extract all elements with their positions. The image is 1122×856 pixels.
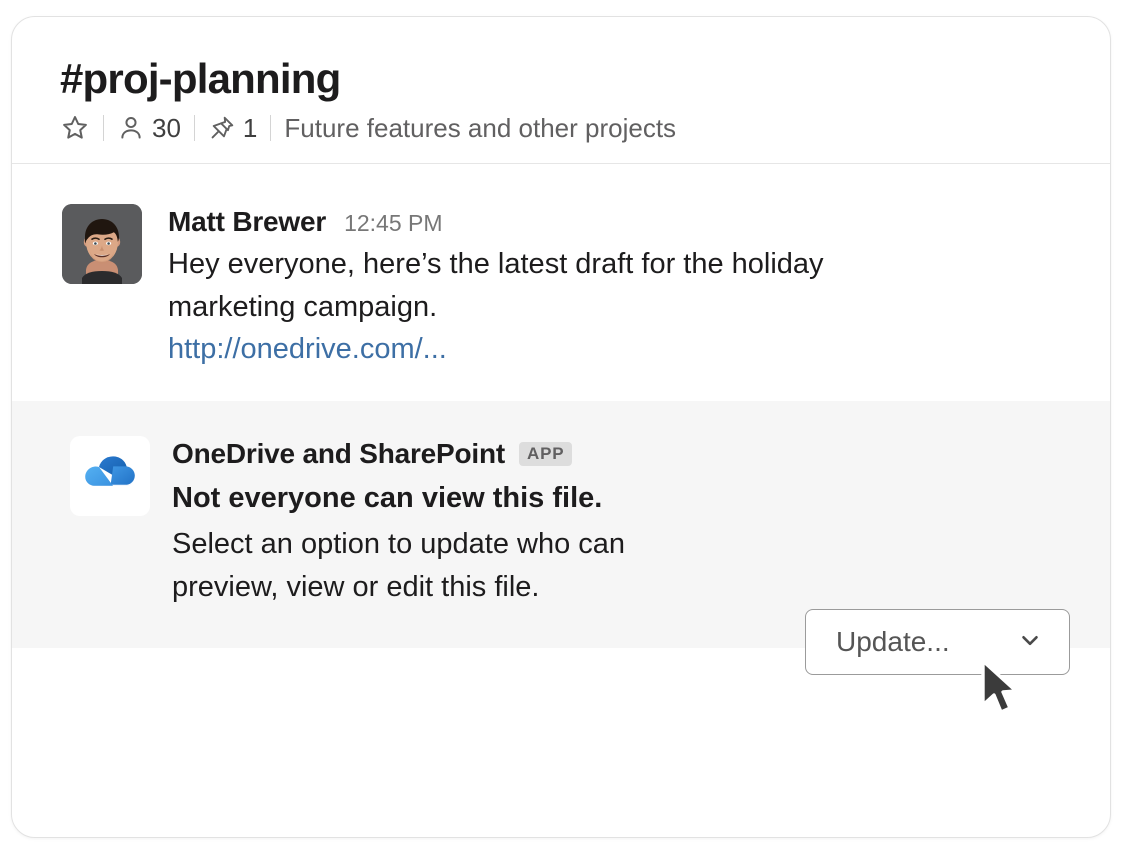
chevron-down-icon bbox=[1017, 627, 1043, 658]
message-link[interactable]: http://onedrive.com/... bbox=[168, 328, 824, 371]
update-button[interactable]: Update... bbox=[805, 609, 1070, 675]
avatar[interactable] bbox=[62, 204, 142, 284]
channel-meta-bar: 30 1 Future features and other projects bbox=[60, 111, 1110, 145]
meta-divider-1 bbox=[103, 115, 104, 141]
slack-channel-card: #proj-planning 30 bbox=[11, 16, 1111, 838]
attachment-body: OneDrive and SharePoint APP Not everyone… bbox=[172, 436, 1110, 608]
attachment-header: OneDrive and SharePoint APP bbox=[172, 438, 1110, 470]
attachment-description-line-1: Select an option to update who can bbox=[172, 523, 772, 566]
person-icon[interactable] bbox=[117, 114, 145, 142]
app-name[interactable]: OneDrive and SharePoint bbox=[172, 438, 505, 470]
message-author[interactable]: Matt Brewer bbox=[168, 206, 326, 238]
channel-title: #proj-planning bbox=[60, 57, 1110, 101]
message-header: Matt Brewer 12:45 PM bbox=[168, 206, 824, 238]
onedrive-cloud-icon bbox=[70, 436, 150, 516]
meta-divider-3 bbox=[270, 115, 271, 141]
pin-icon[interactable] bbox=[208, 114, 236, 142]
star-outline-icon[interactable] bbox=[60, 113, 90, 143]
message-text-line-2: marketing campaign. bbox=[168, 286, 824, 329]
member-count[interactable]: 30 bbox=[152, 113, 181, 144]
message-timestamp[interactable]: 12:45 PM bbox=[344, 210, 442, 237]
channel-topic[interactable]: Future features and other projects bbox=[284, 113, 676, 144]
message-body: Matt Brewer 12:45 PM Hey everyone, here’… bbox=[168, 204, 824, 371]
meta-divider-2 bbox=[194, 115, 195, 141]
update-button-label: Update... bbox=[836, 626, 950, 658]
pinned-count[interactable]: 1 bbox=[243, 113, 257, 144]
app-badge: APP bbox=[519, 442, 572, 466]
channel-header: #proj-planning 30 bbox=[12, 17, 1110, 164]
attachment-description-line-2: preview, view or edit this file. bbox=[172, 566, 772, 609]
message-text-line-1: Hey everyone, here’s the latest draft fo… bbox=[168, 243, 824, 286]
attachment-title: Not everyone can view this file. bbox=[172, 478, 1110, 519]
message-row: Matt Brewer 12:45 PM Hey everyone, here’… bbox=[12, 164, 1110, 401]
